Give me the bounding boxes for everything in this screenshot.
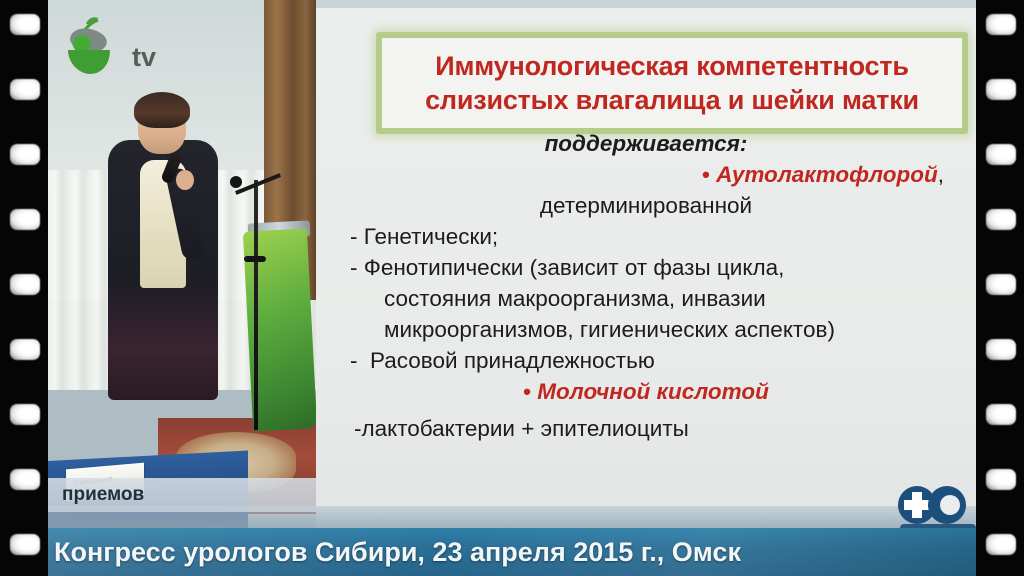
slide-title-line-1: Иммунологическая компетентность bbox=[435, 49, 909, 83]
slide-title-line-2: слизистых влагалища и шейки матки bbox=[425, 83, 919, 117]
film-sprocket-hole bbox=[986, 339, 1016, 360]
film-sprocket-hole bbox=[986, 404, 1016, 425]
film-strip-right bbox=[976, 0, 1024, 576]
video-frame: Ефимова А.И. Иммунологическая компетентн… bbox=[0, 0, 1024, 576]
slide-body-dash-2-cont-1: состояния макроорганизма, инвазии bbox=[330, 283, 962, 314]
slide-body-dash-2: - Фенотипически (зависит от фазы цикла, bbox=[330, 252, 962, 283]
dash-glyph-1: - bbox=[350, 224, 358, 249]
bullet-icon-2: • bbox=[523, 379, 531, 404]
caption-bar: Конгресс урологов Сибири, 23 апреля 2015… bbox=[48, 528, 976, 576]
slide-body-dash-3: - Расовой принадлежностью bbox=[330, 345, 962, 376]
slide-body-bullet-2: • Молочной кислотой bbox=[330, 376, 962, 407]
film-sprocket-hole bbox=[10, 469, 40, 490]
film-sprocket-hole bbox=[986, 209, 1016, 230]
video-content: Ефимова А.И. Иммунологическая компетентн… bbox=[48, 0, 976, 576]
film-sprocket-hole bbox=[10, 404, 40, 425]
slide-body-dash-2-cont-2: микроорганизмов, гигиенических аспектов) bbox=[330, 314, 962, 345]
film-sprocket-hole bbox=[986, 79, 1016, 100]
slide-body: поддерживается: • Аутолактофлорой, детер… bbox=[330, 128, 962, 444]
slide-body-highlight-1-tail: , bbox=[938, 162, 944, 187]
dash-glyph-3: - bbox=[350, 348, 358, 373]
bullet-icon: • bbox=[702, 162, 710, 187]
film-sprocket-hole bbox=[10, 339, 40, 360]
speaker-photo: Ефимова А.И. bbox=[48, 0, 316, 546]
film-sprocket-hole bbox=[986, 14, 1016, 35]
circle-icon bbox=[928, 486, 966, 524]
slide-body-bullet-1: • Аутолактофлорой, bbox=[330, 159, 962, 190]
slide-body-dash-3-text: Расовой принадлежностью bbox=[370, 348, 655, 373]
film-strip-left bbox=[0, 0, 48, 576]
slide-body-dash-1-text: Генетически; bbox=[364, 224, 498, 249]
film-sprocket-hole bbox=[10, 534, 40, 555]
film-sprocket-hole bbox=[10, 144, 40, 165]
channel-logo: tv bbox=[58, 14, 188, 80]
slide-body-dash-2-text: Фенотипически (зависит от фазы цикла, bbox=[364, 255, 785, 280]
slide-body-footer: -лактобактерии + эпителиоциты bbox=[330, 413, 962, 444]
presentation-slide: Иммунологическая компетентность слизисты… bbox=[316, 8, 976, 506]
slide-body-subline-1: детерминированной bbox=[330, 190, 962, 221]
slide-body-highlight-1: Аутолактофлорой bbox=[716, 162, 938, 187]
photo-mic-stand-base bbox=[244, 256, 266, 262]
film-sprocket-hole bbox=[10, 79, 40, 100]
caption-text: Конгресс урологов Сибири, 23 апреля 2015… bbox=[48, 537, 741, 568]
apple-leaf-icon bbox=[58, 14, 138, 80]
subtitle-bar: приемов bbox=[48, 478, 316, 512]
slide-body-intro: поддерживается: bbox=[330, 128, 962, 159]
film-sprocket-hole bbox=[986, 274, 1016, 295]
film-sprocket-hole bbox=[10, 209, 40, 230]
film-sprocket-hole bbox=[986, 144, 1016, 165]
film-sprocket-hole bbox=[10, 274, 40, 295]
film-sprocket-hole bbox=[986, 534, 1016, 555]
slide-body-highlight-2: Молочной кислотой bbox=[537, 379, 769, 404]
film-sprocket-hole bbox=[10, 14, 40, 35]
slide-body-dash-1: - Генетически; bbox=[330, 221, 962, 252]
slide-title-box: Иммунологическая компетентность слизисты… bbox=[376, 32, 968, 134]
photo-mic-stand-knob bbox=[230, 176, 242, 188]
photo-speaker-hand bbox=[176, 170, 194, 190]
subtitle-text: приемов bbox=[48, 484, 144, 506]
photo-speaker-hair bbox=[134, 92, 190, 128]
film-sprocket-hole bbox=[986, 469, 1016, 490]
dash-glyph-2: - bbox=[350, 255, 358, 280]
photo-mic-stand bbox=[254, 180, 258, 430]
channel-logo-text: tv bbox=[132, 42, 156, 73]
